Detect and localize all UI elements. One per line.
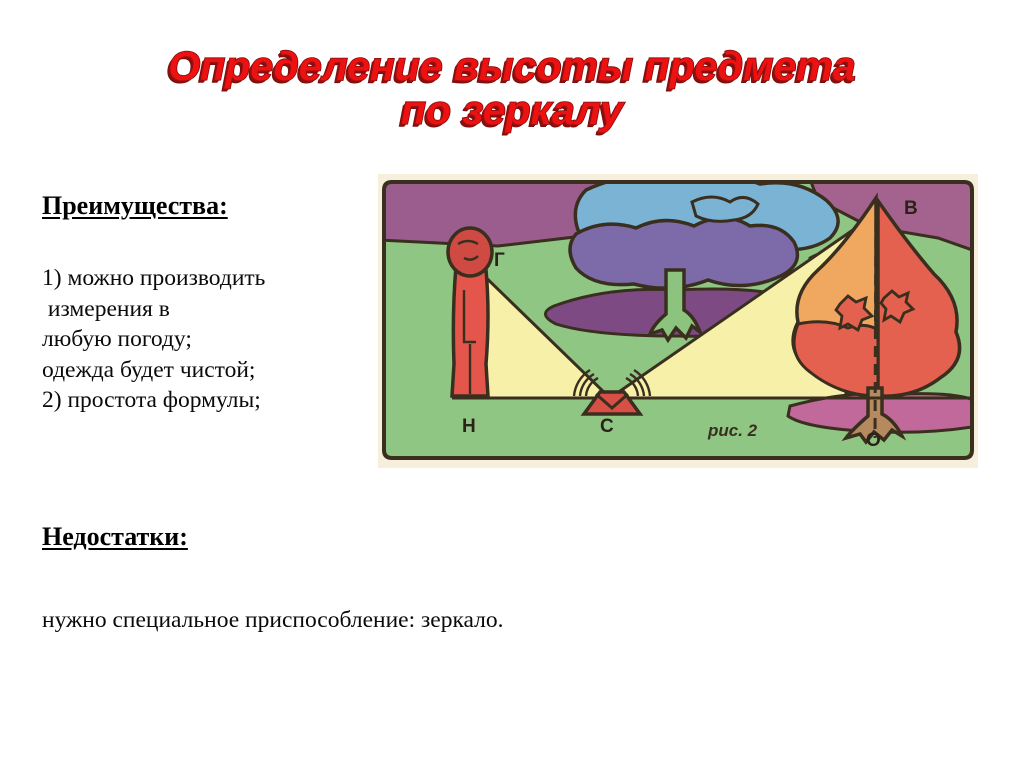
label-person-base: Н	[462, 416, 476, 437]
page-title: Определение высоты предмета по зеркалу	[0, 44, 1024, 133]
mirror-method-illustration: Г Н С В О рис. 2	[378, 174, 978, 468]
advantages-line: любую погоду;	[42, 324, 382, 355]
label-person-eye: Г	[494, 250, 505, 271]
advantages-line: одежда будет чистой;	[42, 355, 382, 386]
scene: Г Н С В О рис. 2	[378, 174, 978, 468]
figure-caption: рис. 2	[707, 421, 758, 440]
advantages-section: Преимущества: 1) можно производить измер…	[42, 190, 382, 416]
advantages-line: 1) можно производить	[42, 263, 382, 294]
title-line-1: Определение высоты предмета	[0, 44, 1024, 88]
label-tree-base: О	[866, 430, 881, 451]
diagram-svg: Г Н С В О рис. 2	[378, 174, 978, 468]
title-line-2: по зеркалу	[0, 88, 1024, 132]
label-mirror: С	[600, 416, 614, 437]
label-tree-top: В	[904, 198, 918, 219]
drawbacks-heading: Недостатки:	[42, 521, 188, 552]
advantages-line: измерения в	[42, 294, 382, 325]
advantages-heading: Преимущества:	[42, 190, 382, 221]
advantages-list: 1) можно производить измерения в любую п…	[42, 263, 382, 416]
drawbacks-text: нужно специальное приспособление: зеркал…	[42, 605, 504, 636]
advantages-line: 2) простота формулы;	[42, 385, 382, 416]
person-head	[448, 228, 492, 276]
